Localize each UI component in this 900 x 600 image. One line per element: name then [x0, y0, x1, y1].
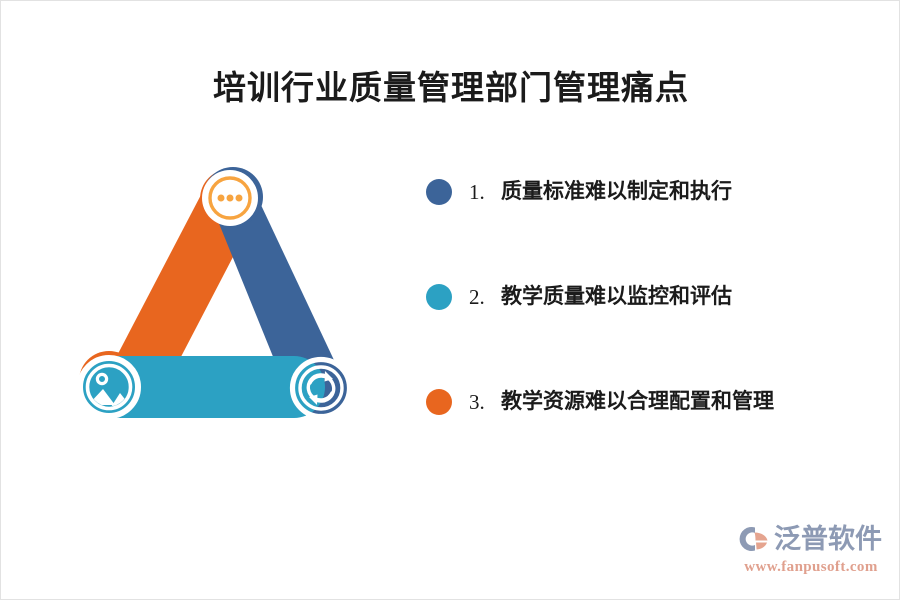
pain-point-list: 1. 质量标准难以制定和执行 2. 教学质量难以监控和评估 3. 教学资源难以合… [421, 161, 881, 476]
three-stage-triangle-diagram [63, 149, 373, 439]
list-item: 1. 质量标准难以制定和执行 [421, 161, 881, 266]
fanpu-c-swoosh-logo-icon [737, 524, 771, 554]
list-item-number: 3. [469, 388, 485, 416]
list-item-label: 质量标准难以制定和执行 [501, 175, 732, 207]
watermark-logo: 泛普软件 www.fanpusoft.com [737, 521, 885, 583]
list-item-label: 教学质量难以监控和评估 [501, 280, 732, 312]
list-item-number: 2. [469, 283, 485, 311]
list-item: 2. 教学质量难以监控和评估 [421, 266, 881, 371]
page-title: 培训行业质量管理部门管理痛点 [1, 69, 900, 109]
list-item-number: 1. [469, 178, 485, 206]
logo-company-name: 泛普软件 [774, 524, 882, 554]
bullet-dot-icon [426, 389, 452, 415]
logo-lockup: 泛普软件 [737, 521, 885, 557]
bullet-dot-icon [426, 284, 452, 310]
slide-canvas: 培训行业质量管理部门管理痛点 [0, 0, 900, 600]
top-node-ellipsis [202, 170, 258, 226]
list-item: 3. 教学资源难以合理配置和管理 [421, 371, 881, 476]
list-item-label: 教学资源难以合理配置和管理 [501, 385, 774, 417]
bullet-dot-icon [426, 179, 452, 205]
logo-website-url: www.fanpusoft.com [737, 558, 885, 576]
